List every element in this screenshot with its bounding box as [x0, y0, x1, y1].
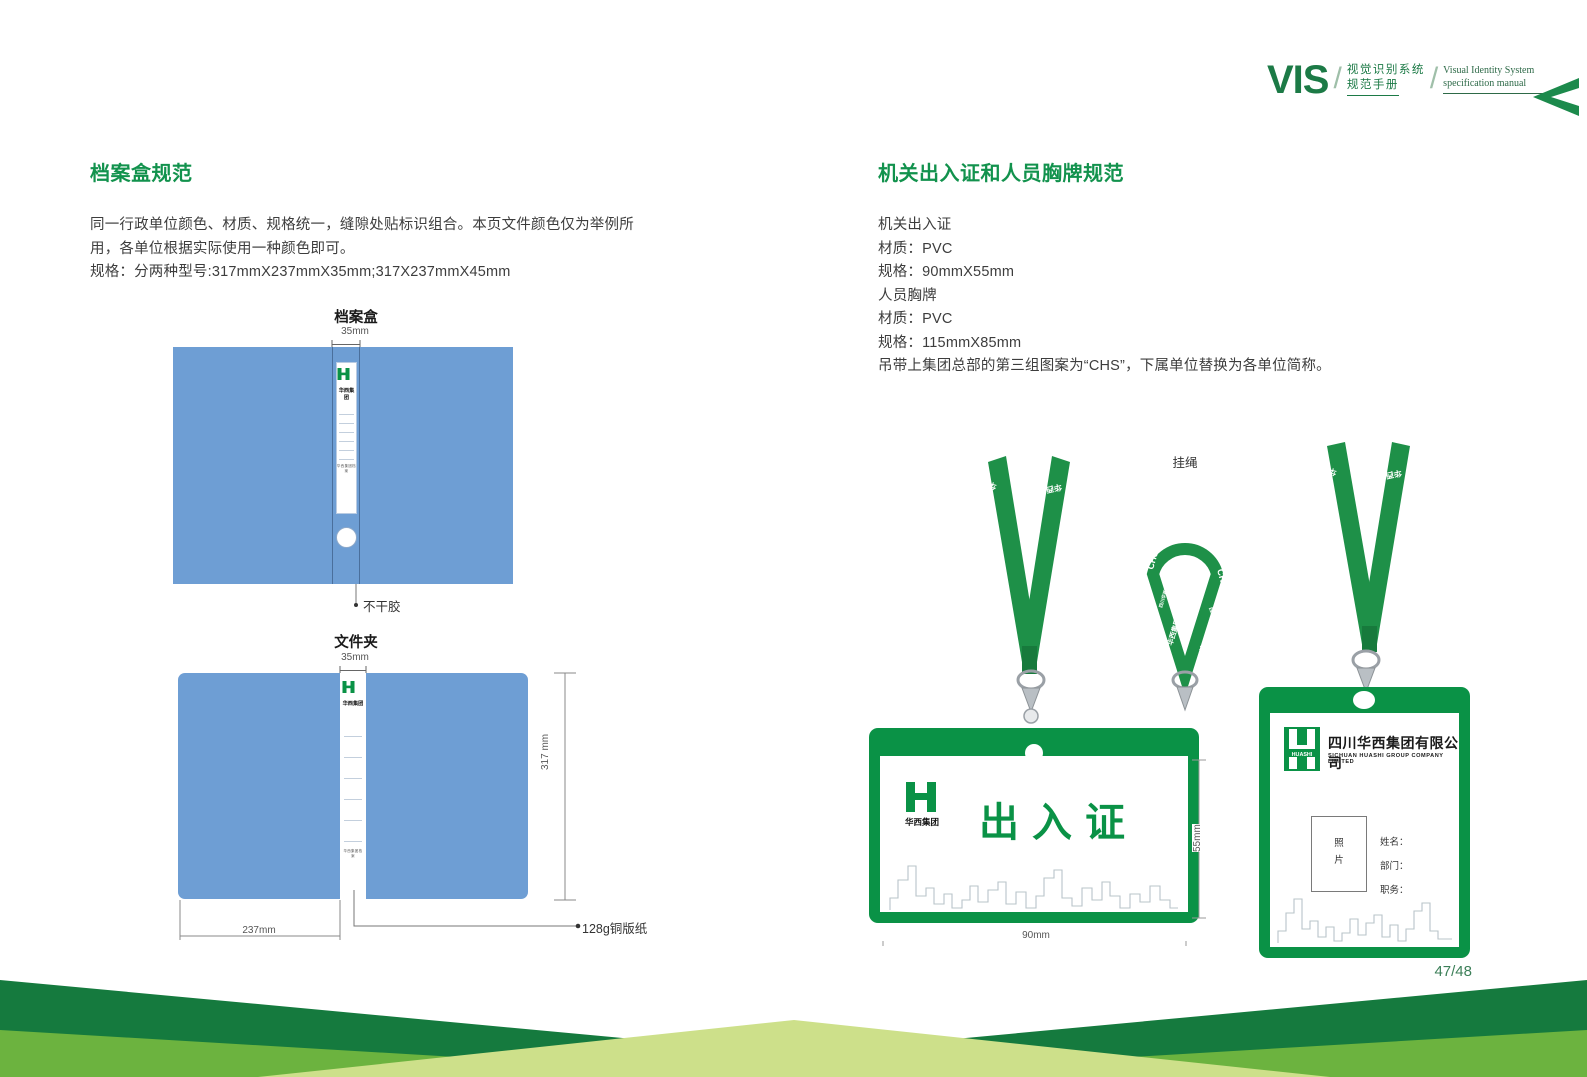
left-para-line-1: 同一行政单位颜色、材质、规格统一，缝隙处贴标识组合。本页文件颜色仅为举例所	[90, 214, 710, 238]
header-chinese-title: 视觉识别系统 规范手册	[1347, 60, 1425, 96]
huaxi-h-logo-icon	[337, 368, 350, 380]
folder-width-dim-label: 237mm	[178, 925, 340, 936]
right-column: 机关出入证和人员胸牌规范 机关出入证 材质：PVC 规格：90mmX55mm 人…	[878, 157, 1498, 379]
header-slash-1: /	[1333, 62, 1341, 96]
lanyard-v-right: 华西集团 华西集团	[1313, 440, 1425, 665]
left-section-heading: 档案盒规范	[90, 157, 710, 186]
photo-label-char-2: 片	[1312, 852, 1366, 869]
header-cn-line1: 视觉识别系统	[1347, 64, 1425, 76]
right-section-heading: 机关出入证和人员胸牌规范	[878, 157, 1498, 186]
archive-box-spine-label: 华西集团 华西集团档案	[336, 362, 357, 514]
header-slash-2: /	[1430, 62, 1438, 96]
archive-label-company: 华西集团	[337, 388, 356, 402]
lanyard-v-left: 华西集团 华西集团	[975, 450, 1085, 685]
spec-line: 规格：90mmX55mm	[878, 261, 1498, 285]
left-body-text: 同一行政单位颜色、材质、规格统一，缝隙处贴标识组合。本页文件颜色仅为举例所 用，…	[90, 214, 710, 285]
lanyard-loop-label: 挂绳	[1140, 452, 1230, 471]
access-card-height-dim-label: 55mm	[1192, 824, 1203, 852]
badge-photo-placeholder: 照 片	[1311, 816, 1367, 892]
city-skyline-graphic	[888, 852, 1180, 912]
left-column: 档案盒规范 同一行政单位颜色、材质、规格统一，缝隙处贴标识组合。本页文件颜色仅为…	[90, 157, 710, 285]
access-card: 华西集团 出入证	[869, 728, 1199, 923]
spec-line: 材质：PVC	[878, 238, 1498, 262]
folder-height-dim-line	[540, 668, 580, 906]
header-en-line1: Visual Identity System	[1443, 65, 1534, 76]
lanyard-clip-middle-icon	[1163, 670, 1207, 720]
huaxi-h-logo-icon	[342, 681, 355, 693]
folder-height-dim-label: 317 mm	[540, 734, 551, 770]
svg-text:华西集团: 华西集团	[1197, 644, 1214, 673]
vis-manual-page: VIS / 视觉识别系统 规范手册 / Visual Identity Syst…	[0, 0, 1587, 1077]
spec-line: 规格：115mmX85mm	[878, 332, 1498, 356]
folder-annotation-leader	[348, 890, 588, 935]
page-header: VIS / 视觉识别系统 规范手册 / Visual Identity Syst…	[1267, 60, 1587, 122]
badge-field-dept: 部门：	[1380, 855, 1409, 879]
header-cn-line2: 规范手册	[1347, 78, 1399, 96]
spec-line: 人员胸牌	[878, 285, 1498, 309]
photo-label-char-1: 照	[1312, 835, 1366, 852]
svg-text:四川华西集团: 四川华西集团	[1207, 607, 1222, 636]
archive-box-title: 档案盒	[276, 306, 436, 327]
badge-face: HUASHI 四川华西集团有限公司 SICHUAN HUASHI GROUP C…	[1270, 713, 1459, 947]
spec-line: 材质：PVC	[878, 308, 1498, 332]
huaxi-h-logo-icon	[906, 782, 936, 812]
folder-label-company: 华西集团	[342, 701, 364, 708]
vis-logo-text: VIS	[1267, 60, 1328, 100]
left-para-line-3: 规格：分两种型号:317mmX237mmX35mm;317X237mmX45mm	[90, 261, 710, 285]
header-en-line2: specification manual	[1443, 78, 1526, 89]
archive-spine-dim-label: 35mm	[300, 326, 410, 337]
left-para-line-2: 用，各单位根据实际使用一种颜色即可。	[90, 238, 710, 262]
access-card-width-dim-label: 90mm	[881, 930, 1191, 941]
spec-line: 吊带上集团总部的第三组图案为“CHS”，下属单位替换为各单位简称。	[878, 355, 1498, 379]
access-card-slot	[1019, 742, 1049, 764]
employee-badge: HUASHI 四川华西集团有限公司 SICHUAN HUASHI GROUP C…	[1259, 687, 1470, 958]
badge-field-name: 姓名：	[1380, 831, 1409, 855]
city-skyline-graphic	[1276, 883, 1454, 945]
folder-label-rule-lines	[342, 716, 364, 842]
chevron-left-icon	[1529, 74, 1587, 120]
lanyard-loop: CHS CHS 四川华西集团 四川华西集团 华西集团 华西集团	[1125, 478, 1245, 688]
spec-line: 机关出入证	[878, 214, 1498, 238]
archive-label-rule-lines	[337, 406, 356, 460]
access-card-title: 出入证	[979, 790, 1138, 848]
folder-title: 文件夹	[276, 631, 436, 652]
folder-label-footer: 华西集团档案	[342, 848, 364, 858]
badge-logo-mark: HUASHI	[1292, 752, 1313, 758]
folder-spine-dim-label: 35mm	[300, 652, 410, 663]
access-card-company: 华西集团	[900, 816, 944, 828]
lanyard-clip-left-icon	[1008, 668, 1054, 724]
folder-paper-note: 128g铜版纸	[582, 918, 647, 937]
right-spec-list: 机关出入证 材质：PVC 规格：90mmX55mm 人员胸牌 材质：PVC 规格…	[878, 214, 1498, 379]
archive-label-footer: 华西集团档案	[337, 463, 356, 473]
huaxi-h-logo-icon: HUASHI	[1284, 727, 1320, 771]
footer-decoration	[0, 972, 1587, 1077]
badge-slot	[1347, 691, 1381, 713]
archive-adhesive-note: 不干胶	[363, 596, 401, 615]
folder-spine-label: 华西集团 华西集团档案	[342, 676, 364, 896]
badge-company-en: SICHUAN HUASHI GROUP COMPANY LIMITED	[1328, 753, 1459, 765]
archive-box-finger-hole	[336, 527, 357, 548]
